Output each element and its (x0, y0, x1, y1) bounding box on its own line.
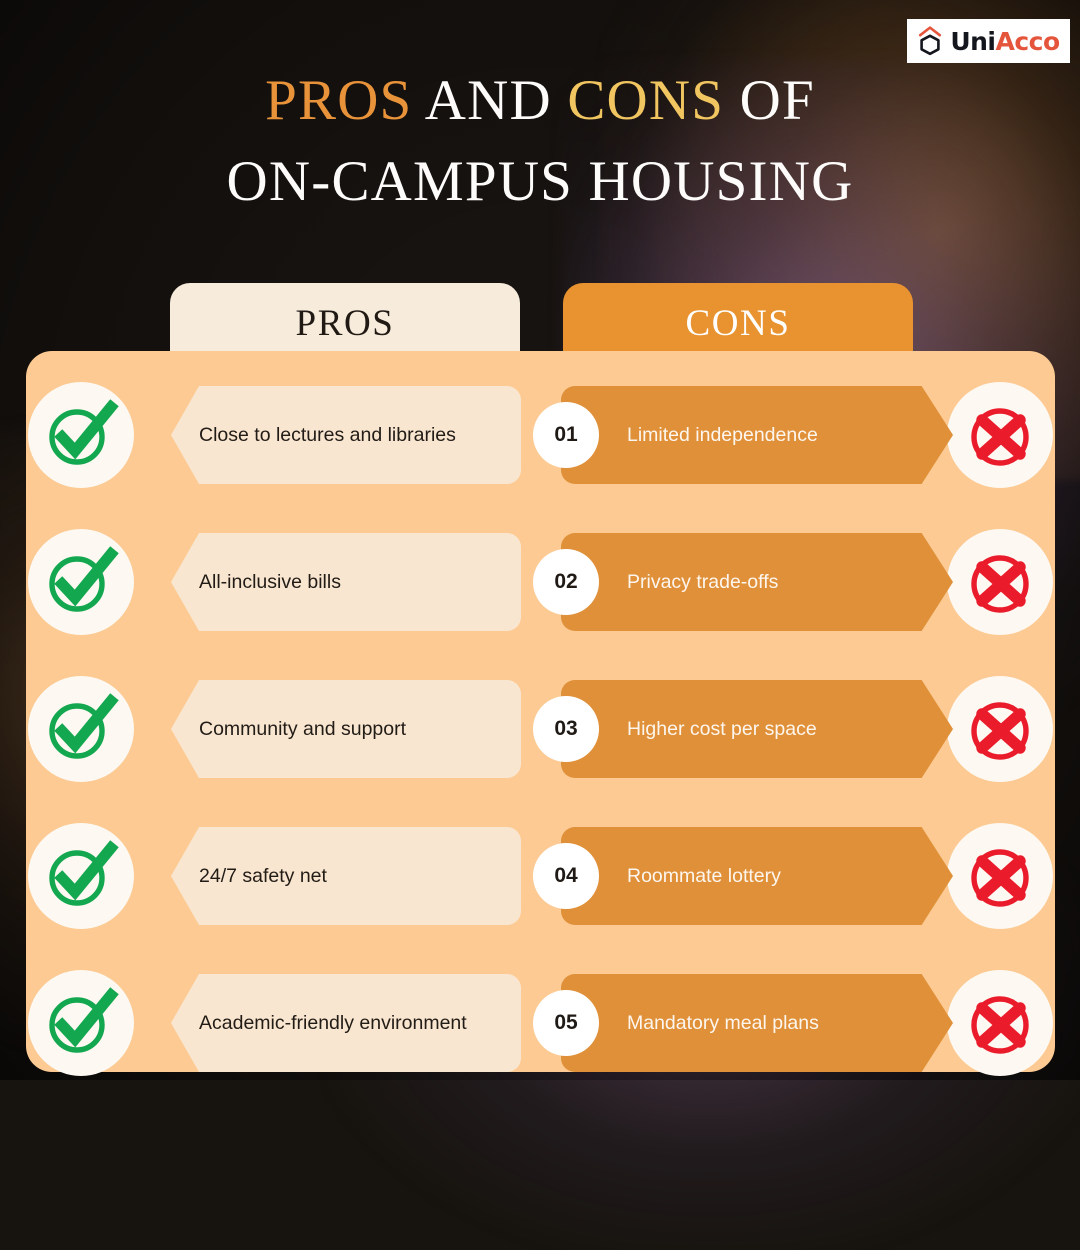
brand-logo-text: UniAcco (950, 29, 1059, 54)
page-title-line-2: ON-CAMPUS HOUSING (0, 153, 1080, 210)
row-number-badge: 03 (533, 696, 599, 762)
cons-item-label: Higher cost per space (627, 716, 817, 742)
pros-item-label: Academic-friendly environment (199, 1010, 467, 1036)
red-cross-circle-icon (947, 676, 1053, 782)
pros-item-03[interactable]: Community and support (171, 680, 521, 778)
red-cross-circle-icon (947, 970, 1053, 1076)
cons-item-03[interactable]: Higher cost per space (561, 680, 953, 778)
row-number-badge: 04 (533, 843, 599, 909)
table-row: Close to lectures and libraries01Limited… (26, 386, 1055, 484)
page-title-line-1: PROS AND CONS OF (0, 72, 1080, 129)
title-word-pros: PROS (265, 69, 412, 132)
red-cross-circle-icon (947, 382, 1053, 488)
cons-item-label: Roommate lottery (627, 863, 781, 889)
table-row: Community and support03Higher cost per s… (26, 680, 1055, 778)
cons-item-01[interactable]: Limited independence (561, 386, 953, 484)
cons-item-05[interactable]: Mandatory meal plans (561, 974, 953, 1072)
title-word-cons: CONS (567, 69, 724, 132)
green-check-circle-icon (28, 382, 134, 488)
brand-logo-text-uni: Uni (950, 27, 995, 56)
column-header-cons-label: CONS (685, 302, 790, 345)
row-number-badge: 02 (533, 549, 599, 615)
pros-item-label: All-inclusive bills (199, 569, 341, 595)
pros-item-label: Community and support (199, 716, 406, 742)
cons-item-label: Mandatory meal plans (627, 1010, 819, 1036)
green-check-circle-icon (28, 823, 134, 929)
column-header-pros-label: PROS (296, 302, 395, 345)
red-cross-circle-icon (947, 823, 1053, 929)
red-cross-circle-icon (947, 529, 1053, 635)
page-title: PROS AND CONS OF ON-CAMPUS HOUSING (0, 72, 1080, 210)
table-row: All-inclusive bills02Privacy trade-offs (26, 533, 1055, 631)
pros-item-02[interactable]: All-inclusive bills (171, 533, 521, 631)
cons-item-label: Limited independence (627, 422, 818, 448)
cons-item-04[interactable]: Roommate lottery (561, 827, 953, 925)
pros-item-04[interactable]: 24/7 safety net (171, 827, 521, 925)
brand-logo: UniAcco (907, 19, 1070, 63)
cons-item-02[interactable]: Privacy trade-offs (561, 533, 953, 631)
uniacco-house-hexagon-icon (917, 26, 943, 56)
comparison-panel: Close to lectures and libraries01Limited… (26, 351, 1055, 1072)
pros-item-label: 24/7 safety net (199, 863, 327, 889)
pros-item-label: Close to lectures and libraries (199, 422, 456, 448)
brand-logo-text-acco: Acco (996, 27, 1060, 56)
cons-item-label: Privacy trade-offs (627, 569, 778, 595)
pros-item-01[interactable]: Close to lectures and libraries (171, 386, 521, 484)
title-word-of: OF (724, 69, 815, 132)
table-row: 24/7 safety net04Roommate lottery (26, 827, 1055, 925)
green-check-circle-icon (28, 970, 134, 1076)
title-word-and: AND (412, 69, 567, 132)
green-check-circle-icon (28, 676, 134, 782)
row-number-badge: 05 (533, 990, 599, 1056)
green-check-circle-icon (28, 529, 134, 635)
row-number-badge: 01 (533, 402, 599, 468)
table-row: Academic-friendly environment05Mandatory… (26, 974, 1055, 1072)
pros-item-05[interactable]: Academic-friendly environment (171, 974, 521, 1072)
